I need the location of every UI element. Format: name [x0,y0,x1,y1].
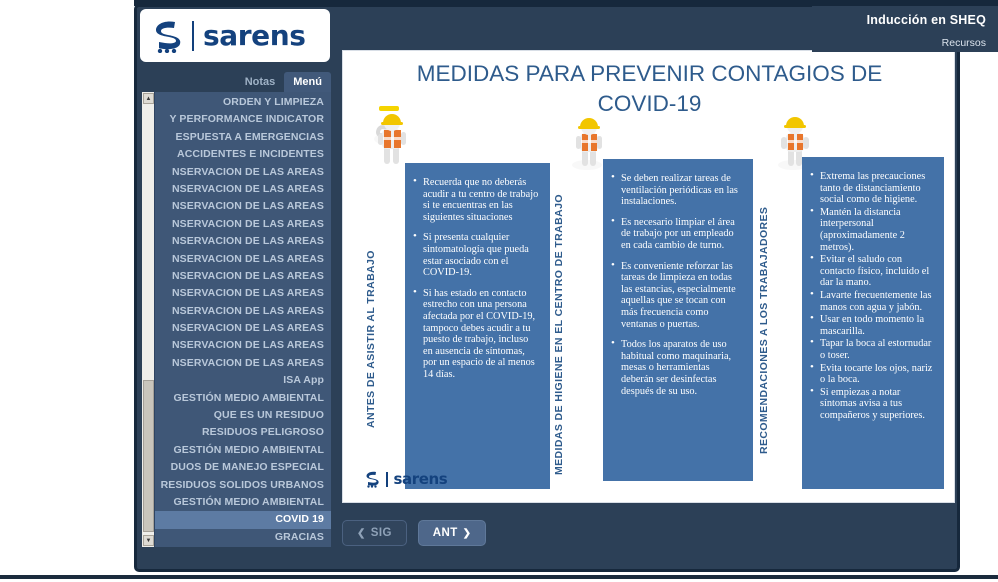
sidebar-item[interactable]: QUE ES UN RESIDUO [155,407,331,424]
sidebar-item[interactable]: NSERVACION DE LAS AREAS [155,337,331,354]
sidebar-item[interactable]: ACCIDENTES E INCIDENTES [155,146,331,163]
scrollbar-thumb[interactable] [143,380,154,532]
sidebar-item[interactable]: NSERVACION DE LAS AREAS [155,268,331,285]
logo-divider [386,472,388,487]
slide-title: MEDIDAS PARA PREVENIR CONTAGIOS DE COVID… [383,59,916,119]
screen-root: Inducción en SHEQ Recursos sarens Notas … [0,0,998,582]
note-highlight-icon [379,106,399,111]
scroll-up-arrow-icon[interactable]: ▲ [143,93,154,104]
bullet-item: Extrema las precauciones tanto de distan… [810,171,934,206]
sidebar-item[interactable]: NSERVACION DE LAS AREAS [155,216,331,233]
sidebar-item[interactable]: ORDEN Y LIMPIEZA [155,94,331,111]
sidebar-item[interactable]: GESTIÓN MEDIO AMBIENTAL [155,494,331,511]
next-button-label: ANT [433,527,458,539]
sidebar-item[interactable]: NSERVACION DE LAS AREAS [155,251,331,268]
bullet-item: Evitar el saludo con contacto físico, in… [810,254,934,289]
window-bottom-strip [0,575,998,579]
tab-menu[interactable]: Menú [284,72,331,92]
slide-footer-logo: sarens [365,470,447,488]
sidebar-item[interactable]: RESIDUOS SOLIDOS URBANOS [155,477,331,494]
worker-hardhat-vest-icon [367,106,423,168]
slide-footer-wordmark: sarens [394,470,448,488]
bullet-item: Recuerda que no deberás acudir a tu cent… [413,177,540,223]
brand-wordmark: sarens [203,19,306,52]
next-button[interactable]: ANT ❯ [418,520,487,546]
column-2-bullets: Se deben realizar tareas de ventilación … [611,173,743,397]
sidebar-item[interactable]: ISA App [155,372,331,389]
bullet-item: Se deben realizar tareas de ventilación … [611,173,743,208]
sidebar-item[interactable]: RESIDUOS PELIGROSO [155,424,331,441]
resources-link[interactable]: Recursos [812,37,986,49]
prev-button-label: SIG [371,527,392,539]
column-1-label: ANTES DE ASISTIR AL TRABAJO [365,189,378,489]
chevron-left-icon: ❮ [357,528,366,539]
sidebar-item[interactable]: NSERVACION DE LAS AREAS [155,320,331,337]
course-title: Inducción en SHEQ [812,13,986,28]
column-2-label: MEDIDAS DE HIGIENE EN EL CENTRO DE TRABA… [553,189,583,481]
sidebar-item[interactable]: COVID 19 [155,511,331,528]
sidebar-item[interactable]: GRACIAS [155,529,331,546]
sidebar-tabs: Notas Menú [215,70,331,92]
sidebar-item[interactable]: NSERVACION DE LAS AREAS [155,164,331,181]
column-2-card: Se deben realizar tareas de ventilación … [603,159,753,481]
sidebar-item[interactable]: GESTIÓN MEDIO AMBIENTAL [155,390,331,407]
prev-button[interactable]: ❮ SIG [342,520,407,546]
column-1-bullets: Recuerda que no deberás acudir a tu cent… [413,177,540,381]
player-navigation: ❮ SIG ANT ❯ [342,518,955,548]
sidebar-item-list: ORDEN Y LIMPIEZAY PERFORMANCE INDICATORE… [155,92,331,547]
content-column-2: MEDIDAS DE HIGIENE EN EL CENTRO DE TRABA… [553,159,753,481]
sidebar-item[interactable]: NSERVACION DE LAS AREAS [155,181,331,198]
scroll-down-arrow-icon[interactable]: ▼ [143,535,154,546]
column-3-label: RECOMENDACIONES A LOS TRABAJADORES [758,171,771,489]
sidebar-item[interactable]: NSERVACION DE LAS AREAS [155,233,331,250]
content-column-3: RECOMENDACIONES A LOS TRABAJADORES Extre… [758,157,944,489]
bullet-item: Es necesario limpiar el área de trabajo … [611,217,743,252]
bullet-item: Lavarte frecuentemente las manos con agu… [810,290,934,313]
brand-logo: sarens [140,9,330,62]
sidebar-item[interactable]: Y PERFORMANCE INDICATOR [155,111,331,128]
bullet-item: Evita tocarte los ojos, nariz o la boca. [810,363,934,386]
sarens-s-logo-icon [153,19,183,53]
bullet-item: Mantén la distancia interpersonal (aprox… [810,207,934,253]
column-3-card: Extrema las precauciones tanto de distan… [802,157,944,489]
sidebar-menu: ▲ ▼ ORDEN Y LIMPIEZAY PERFORMANCE INDICA… [142,92,331,547]
sidebar-item[interactable]: NSERVACION DE LAS AREAS [155,355,331,372]
player-header: Inducción en SHEQ Recursos [812,6,998,52]
tab-notas[interactable]: Notas [236,72,285,92]
sidebar-item[interactable]: ESPUESTA A EMERGENCIAS [155,129,331,146]
bullet-item: Todos los aparatos de uso habitual como … [611,339,743,397]
sidebar-item[interactable]: NSERVACION DE LAS AREAS [155,285,331,302]
logo-divider [192,21,194,51]
bullet-item: Tapar la boca al estornudar o toser. [810,338,934,361]
sidebar-scrollbar[interactable]: ▲ ▼ [142,92,155,547]
content-column-1: ANTES DE ASISTIR AL TRABAJO Recuerda que… [365,163,550,489]
column-1-card: Recuerda que no deberás acudir a tu cent… [405,163,550,489]
sidebar-item[interactable]: NSERVACION DE LAS AREAS [155,198,331,215]
chevron-right-icon: ❯ [463,528,472,539]
sarens-s-logo-icon [365,470,380,488]
sidebar-item[interactable]: GESTIÓN MEDIO AMBIENTAL [155,442,331,459]
bullet-item: Si has estado en contacto estrecho con u… [413,288,540,381]
slide-canvas: MEDIDAS PARA PREVENIR CONTAGIOS DE COVID… [342,50,955,503]
bullet-item: Si empiezas a notar síntomas avisa a tus… [810,387,934,422]
bullet-item: Si presenta cualquier sintomatología que… [413,232,540,278]
sidebar-item[interactable]: NSERVACION DE LAS AREAS [155,303,331,320]
column-3-bullets: Extrema las precauciones tanto de distan… [810,171,934,421]
sidebar-item[interactable]: DUOS DE MANEJO ESPECIAL [155,459,331,476]
bullet-item: Es conveniente reforzar las tareas de li… [611,261,743,331]
bullet-item: Usar en todo momento la mascarilla. [810,314,934,337]
